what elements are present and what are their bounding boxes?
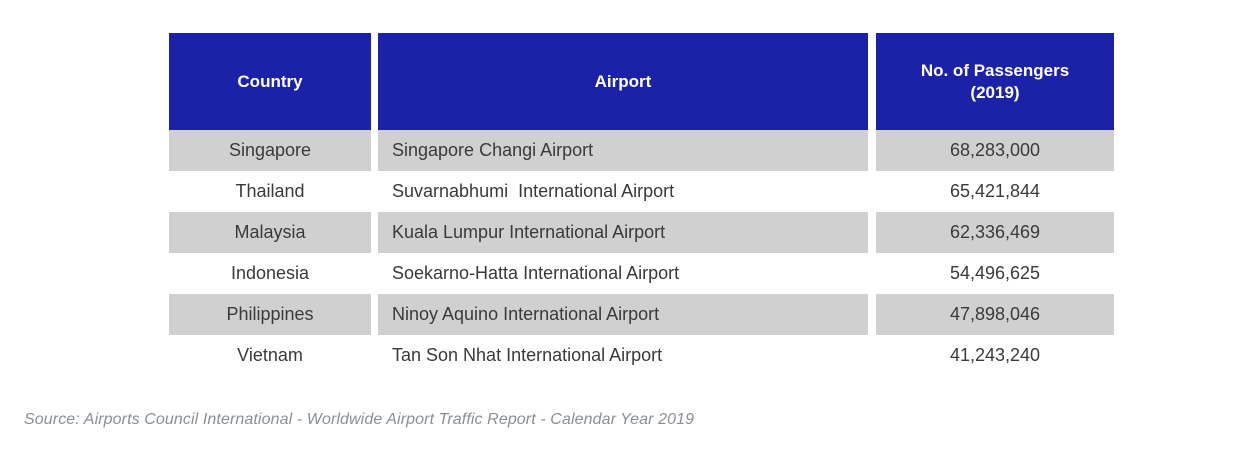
column-header-airport-label: Airport [595, 71, 652, 93]
cell-country: Singapore [169, 130, 371, 171]
column-header-country-label: Country [237, 71, 302, 93]
column-header-passengers-line1: No. of Passengers [921, 61, 1069, 80]
table-row: Singapore Singapore Changi Airport 68,28… [169, 130, 1114, 171]
column-header-country: Country [169, 33, 371, 130]
cell-airport: Soekarno-Hatta International Airport [378, 253, 868, 294]
cell-passengers: 62,336,469 [876, 212, 1114, 253]
table-row: Malaysia Kuala Lumpur International Airp… [169, 212, 1114, 253]
table-row: Indonesia Soekarno-Hatta International A… [169, 253, 1114, 294]
column-header-passengers-line2: (2019) [970, 83, 1019, 102]
cell-passengers: 41,243,240 [876, 335, 1114, 376]
table-header-row: Country Airport No. of Passengers (2019) [169, 33, 1114, 130]
source-citation: Source: Airports Council International -… [24, 411, 694, 429]
cell-passengers: 54,496,625 [876, 253, 1114, 294]
column-header-airport: Airport [378, 33, 868, 130]
cell-airport: Ninoy Aquino International Airport [378, 294, 868, 335]
cell-country: Indonesia [169, 253, 371, 294]
cell-passengers: 65,421,844 [876, 171, 1114, 212]
column-header-passengers: No. of Passengers (2019) [876, 33, 1114, 130]
cell-country: Philippines [169, 294, 371, 335]
table-row: Thailand Suvarnabhumi International Airp… [169, 171, 1114, 212]
cell-country: Malaysia [169, 212, 371, 253]
cell-country: Vietnam [169, 335, 371, 376]
cell-country: Thailand [169, 171, 371, 212]
cell-passengers: 47,898,046 [876, 294, 1114, 335]
cell-passengers: 68,283,000 [876, 130, 1114, 171]
airport-passengers-table: Country Airport No. of Passengers (2019)… [169, 33, 1114, 376]
cell-airport: Tan Son Nhat International Airport [378, 335, 868, 376]
cell-airport: Suvarnabhumi International Airport [378, 171, 868, 212]
cell-airport: Singapore Changi Airport [378, 130, 868, 171]
table-row: Vietnam Tan Son Nhat International Airpo… [169, 335, 1114, 376]
table-row: Philippines Ninoy Aquino International A… [169, 294, 1114, 335]
column-header-passengers-label: No. of Passengers (2019) [921, 60, 1069, 104]
cell-airport: Kuala Lumpur International Airport [378, 212, 868, 253]
